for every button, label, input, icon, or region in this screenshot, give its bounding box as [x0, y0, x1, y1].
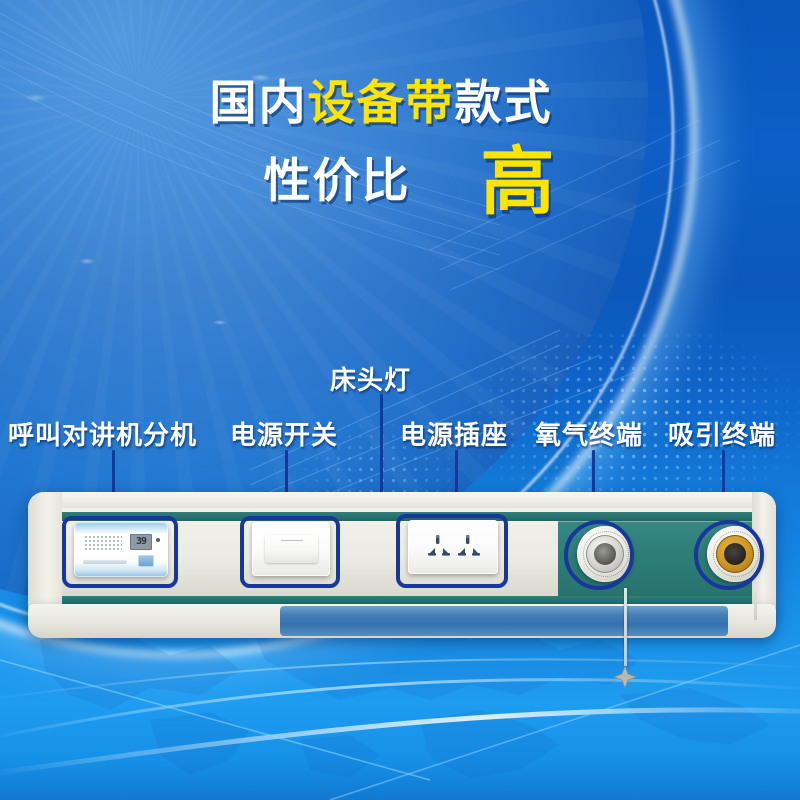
panel-top-edge	[28, 492, 776, 508]
panel-blue-trim-rail	[280, 606, 728, 636]
highlight-circle-oxygen	[564, 520, 634, 590]
highlight-box-power-switch	[240, 516, 340, 588]
callout-label-power-socket: 电源插座	[400, 415, 508, 452]
poster-canvas: 国内设备带款式 性价比高 呼叫对讲机分机 电源开关 床头灯 电源插座 氧气终端 …	[0, 0, 800, 800]
highlight-circle-suction	[694, 520, 764, 590]
suction-terminal-cord	[754, 586, 757, 620]
highlight-box-power-socket	[396, 514, 508, 588]
pull-cord-handle-icon[interactable]	[612, 664, 638, 690]
panel-left-end-cap	[28, 492, 62, 617]
callout-label-oxygen-terminal: 氧气终端	[535, 415, 643, 452]
callout-label-suction-terminal: 吸引终端	[668, 415, 776, 452]
callout-layer: 呼叫对讲机分机 电源开关 床头灯 电源插座 氧气终端 吸引终端	[0, 0, 800, 800]
callout-label-power-switch: 电源开关	[230, 415, 338, 452]
callout-label-intercom: 呼叫对讲机分机	[8, 415, 197, 452]
callout-label-bed-lamp: 床头灯	[330, 360, 411, 397]
bed-lamp-pull-cord[interactable]	[624, 588, 627, 666]
highlight-box-intercom	[62, 516, 178, 588]
